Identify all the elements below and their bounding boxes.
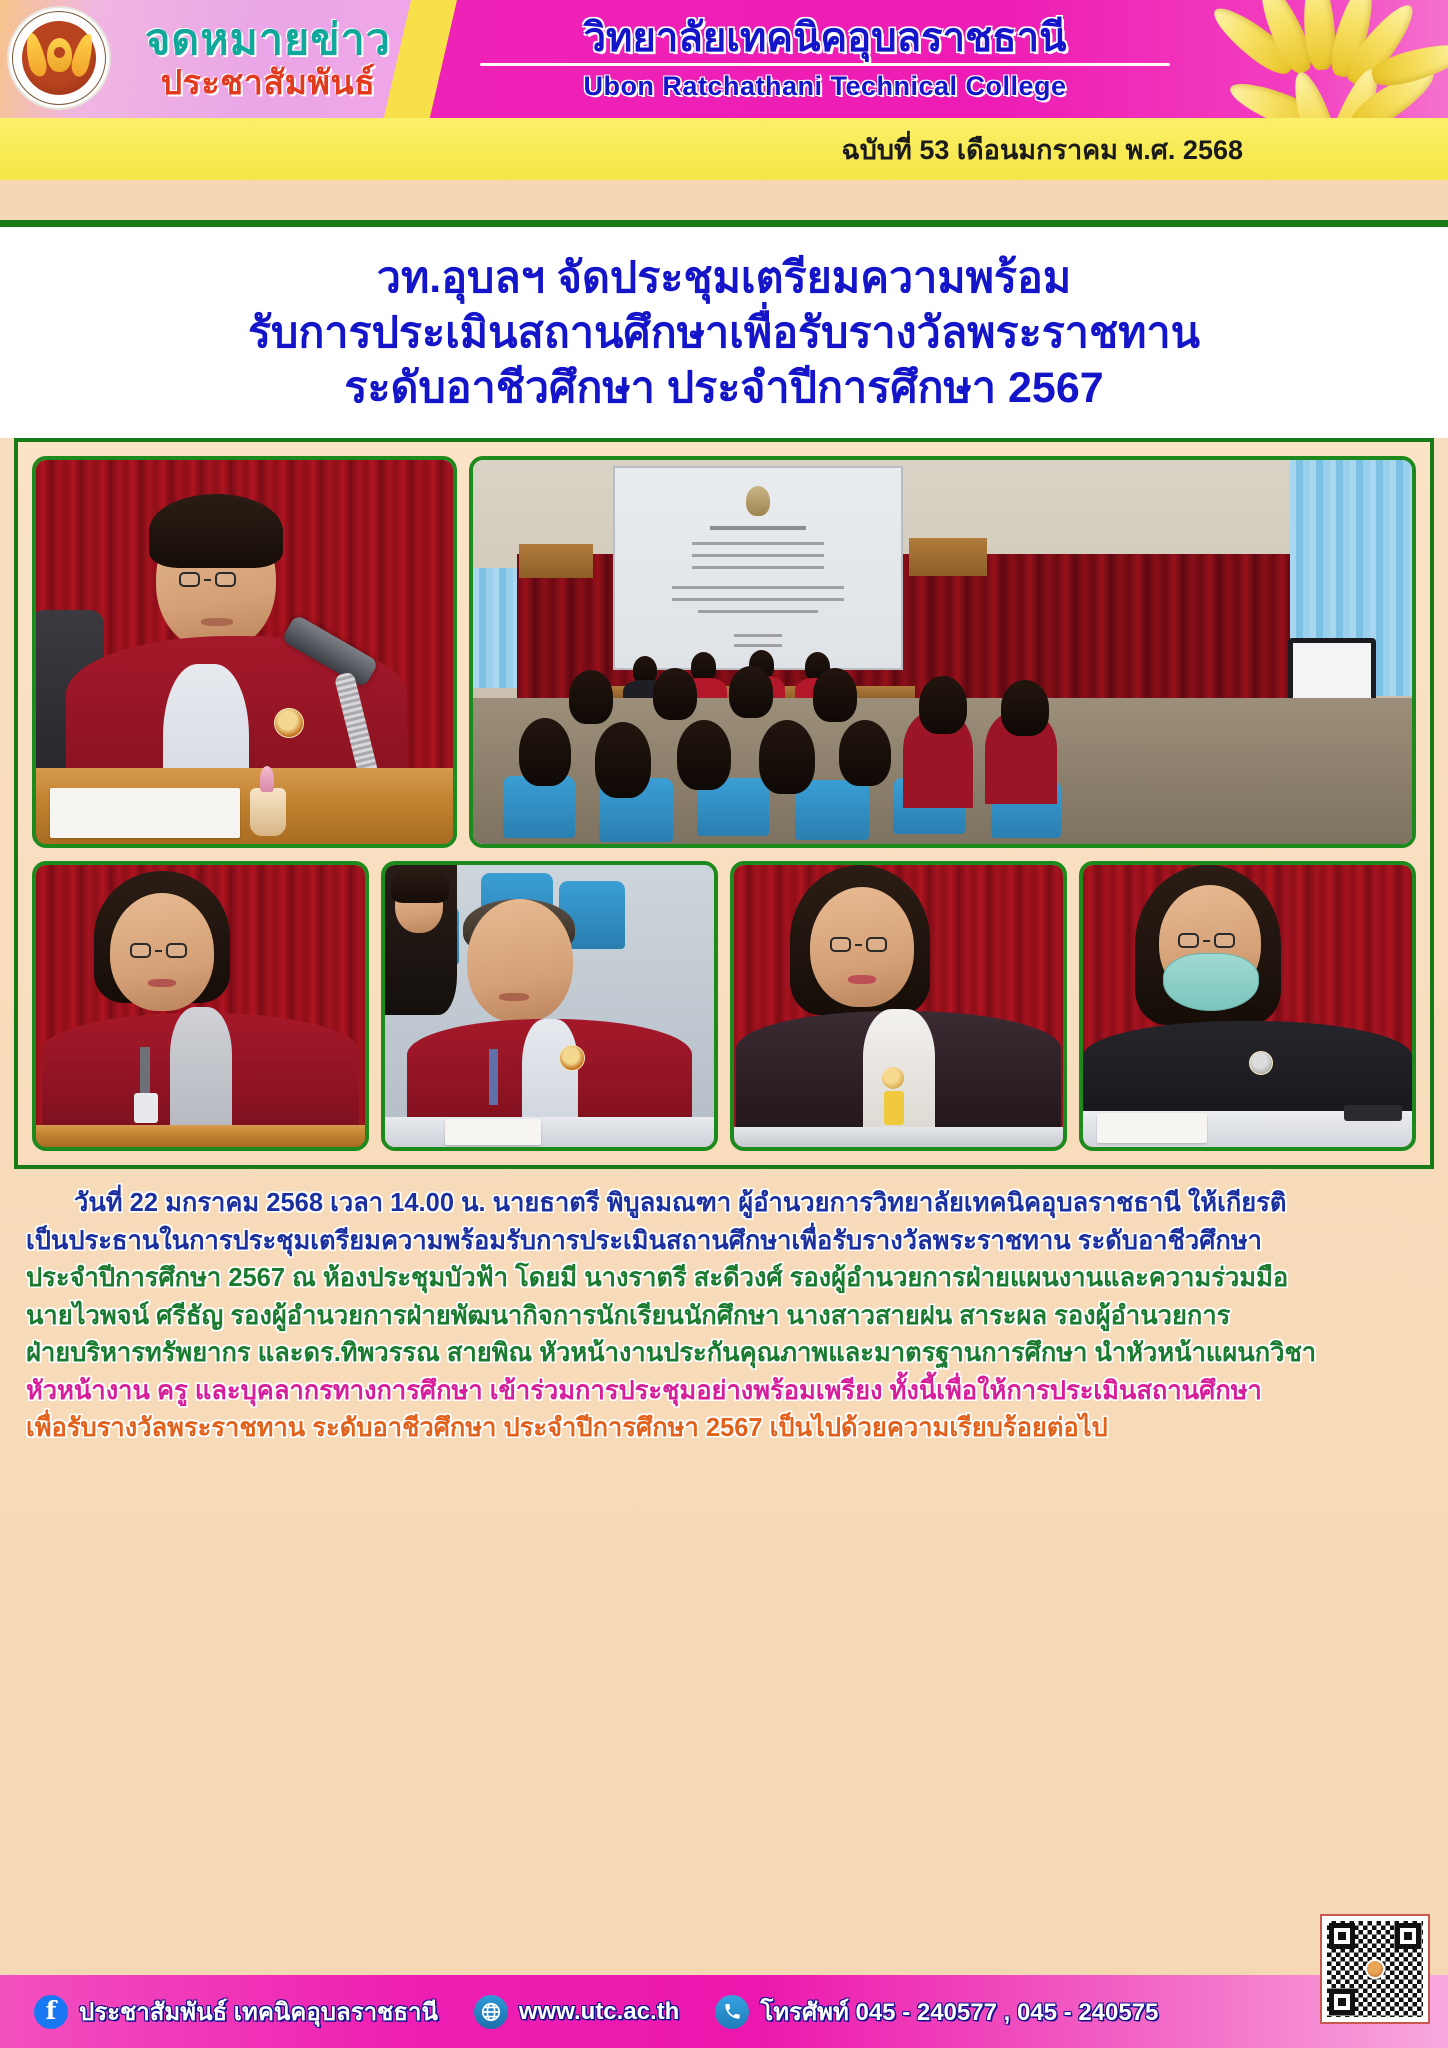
header-spacer [0, 180, 1448, 220]
headline-line-1: วท.อุบลฯ จัดประชุมเตรียมความพร้อม [20, 251, 1428, 306]
photo-row-bottom [32, 861, 1416, 1151]
issue-number-text: ฉบับที่ 53 เดือนมกราคม พ.ศ. 2568 [841, 128, 1243, 171]
photo-3-glasses [130, 943, 187, 958]
photo-4-shirt [522, 1019, 578, 1131]
photo-2-stage-wood-right [909, 538, 987, 576]
college-name-english: Ubon Ratchathani Technical College [583, 71, 1066, 102]
photo-5-id-card [884, 1091, 904, 1125]
body-line-5: ฝ่ายบริหารทรัพยากร และดร.ทิพวรรณ สายพิณ … [26, 1335, 1422, 1372]
photo-3-table [36, 1125, 365, 1147]
footer-website[interactable]: www.utc.ac.th [474, 1995, 679, 2029]
footer-phone[interactable]: โทรศัพท์ 045 - 240577 , 045 - 240575 [715, 1992, 1158, 2031]
qr-finder-top-right [1395, 1923, 1421, 1949]
photo-1-paper [50, 788, 240, 838]
photo-2-stage-wood-left [519, 544, 593, 578]
body-line-6: หัวหน้างาน ครู และบุคลากรทางการศึกษา เข้… [26, 1373, 1422, 1410]
headline-block: วท.อุบลฯ จัดประชุมเตรียมความพร้อม รับการ… [0, 227, 1448, 438]
footer-facebook-label: ประชาสัมพันธ์ เทคนิคอุบลราชธานี [79, 1992, 438, 2031]
facebook-icon: f [34, 1995, 68, 2029]
photo-director-speaking [32, 456, 457, 848]
body-line-4: นายไวพจน์ ศรีธัญ รองผู้อำนวยการฝ่ายพัฒนา… [26, 1298, 1422, 1335]
photo-5-brooch [882, 1067, 904, 1089]
college-title-block: วิทยาลัยเทคนิคอุบลราชธานี Ubon Ratchatha… [450, 2, 1200, 116]
footer-bar: f ประชาสัมพันธ์ เทคนิคอุบลราชธานี www.ut… [0, 1975, 1448, 2048]
photo-5-table [734, 1127, 1063, 1147]
newsletter-poster: จดหมายข่าว ประชาสัมพันธ์ วิทยาลัยเทคนิคอ… [0, 0, 1448, 2048]
college-seal-logo [7, 6, 111, 110]
article-body: วันที่ 22 มกราคม 2568 เวลา 14.00 น. นายธ… [0, 1169, 1448, 1975]
photo-row-top [32, 456, 1416, 848]
photo-collage-panel [14, 438, 1434, 1169]
photo-1-lapel-badge [274, 708, 304, 738]
college-name-thai: วิทยาลัยเทคนิคอุบลราชธานี [584, 17, 1067, 59]
body-line-3: ประจำปีการศึกษา 2567 ณ ห้องประชุมบัวฟ้า … [26, 1260, 1422, 1297]
photo-woman-with-mask [1079, 861, 1416, 1151]
newsletter-title-line1: จดหมายข่าว [145, 19, 391, 62]
photo-2-projector-screen [613, 466, 903, 670]
body-line-7: เพื่อรับรางวัลพระราชทาน ระดับอาชีวศึกษา … [26, 1410, 1422, 1447]
photo-man-red-blazer [381, 861, 718, 1151]
seal-flame-left [22, 32, 49, 79]
headline-line-3: ระดับอาชีวศึกษา ประจำปีการศึกษา 2567 [20, 361, 1428, 416]
qr-finder-bottom-left [1329, 1989, 1355, 2015]
globe-icon [474, 1995, 508, 2029]
photo-4-lanyard [489, 1049, 498, 1105]
footer-facebook[interactable]: f ประชาสัมพันธ์ เทคนิคอุบลราชธานี [34, 1992, 438, 2031]
header-banner: จดหมายข่าว ประชาสัมพันธ์ วิทยาลัยเทคนิคอ… [0, 0, 1448, 118]
qr-finder-top-left [1329, 1923, 1355, 1949]
photo-3-lanyard [140, 1047, 150, 1099]
footer-phone-label: โทรศัพท์ 045 - 240577 , 045 - 240575 [760, 1992, 1158, 2031]
photo-5-glasses [830, 937, 887, 952]
issue-bar: ฉบับที่ 53 เดือนมกราคม พ.ศ. 2568 [0, 118, 1448, 180]
qr-code[interactable] [1320, 1914, 1430, 2024]
photo-meeting-room-wide [469, 456, 1416, 848]
photo-1-hair [149, 494, 283, 568]
header-divider-rule [480, 63, 1170, 66]
seal-lotus-bud [47, 38, 72, 72]
footer-website-label: www.utc.ac.th [519, 1998, 679, 2026]
article-paragraph: วันที่ 22 มกราคม 2568 เวลา 14.00 น. นายธ… [26, 1185, 1422, 1447]
photo-4-lapel-badge [559, 1045, 585, 1071]
photo-woman-dark-blazer [730, 861, 1067, 1151]
newsletter-title-line2: ประชาสัมพันธ์ [161, 66, 376, 100]
photo-6-face-mask [1163, 953, 1259, 1011]
phone-icon [715, 1995, 749, 2029]
green-divider-rule [0, 220, 1448, 227]
qr-center-logo [1365, 1959, 1385, 1979]
newsletter-title-block: จดหมายข่าว ประชาสัมพันธ์ [118, 4, 418, 114]
photo-1-glasses [179, 572, 236, 587]
photo-woman-red-blazer [32, 861, 369, 1151]
photo-4-head [467, 899, 573, 1023]
seal-flame-right [69, 32, 96, 79]
seal-inner [22, 21, 96, 95]
body-line-1: วันที่ 22 มกราคม 2568 เวลา 14.00 น. นายธ… [26, 1185, 1422, 1222]
headline-line-2: รับการประเมินสถานศึกษาเพื่อรับรางวัลพระร… [20, 306, 1428, 361]
photo-6-lapel-badge [1249, 1051, 1273, 1075]
qr-code-pattern [1327, 1921, 1423, 2017]
photo-6-glasses [1178, 933, 1235, 948]
body-line-2: เป็นประธานในการประชุมเตรียมความพร้อมรับก… [26, 1223, 1422, 1260]
photo-3-inner-shirt [170, 1007, 232, 1127]
